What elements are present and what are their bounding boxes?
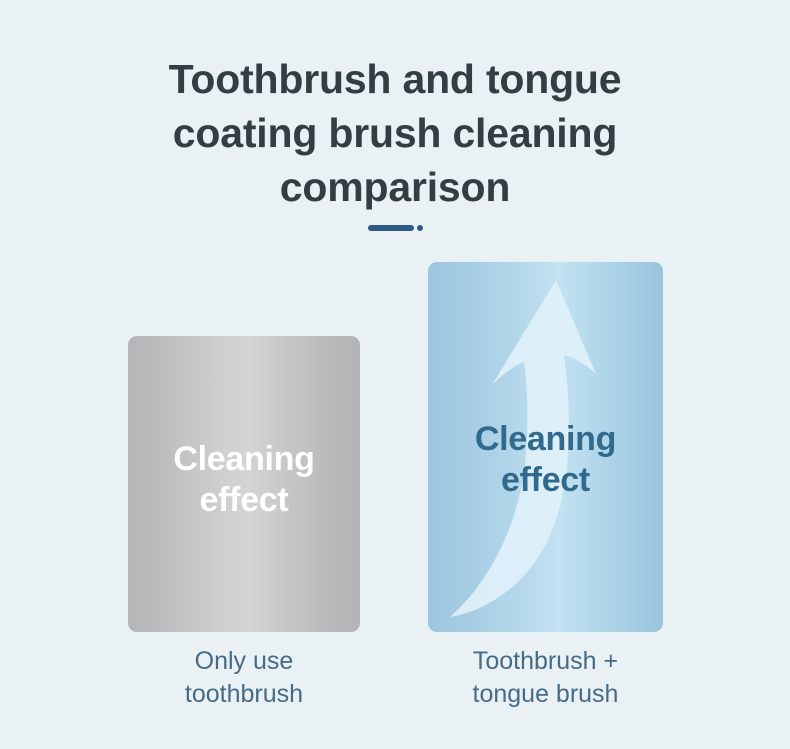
caption-line-1: Only use: [128, 645, 360, 678]
bar-label-line-1: Cleaning: [428, 419, 663, 460]
bar-label-line-2: effect: [428, 460, 663, 501]
bar-label-line-1: Cleaning: [128, 439, 360, 480]
bar-label-toothbrush-only: Cleaning effect: [128, 439, 360, 521]
caption-line-2: toothbrush: [128, 678, 360, 711]
comparison-infographic: Toothbrush and tongue coating brush clea…: [0, 0, 790, 749]
page-title-line-2: coating brush cleaning: [0, 106, 790, 160]
bar-label-toothbrush-plus-tongue-brush: Cleaning effect: [428, 419, 663, 501]
bar-toothbrush-only: Cleaning effect: [128, 336, 360, 632]
page-title-line-1: Toothbrush and tongue: [0, 52, 790, 106]
caption-line-1: Toothbrush +: [428, 645, 663, 678]
title-divider: [0, 222, 790, 236]
page-title-line-3: comparison: [0, 160, 790, 214]
caption-toothbrush-only: Only use toothbrush: [128, 645, 360, 711]
bar-label-line-2: effect: [128, 480, 360, 521]
divider-dot: [417, 225, 423, 231]
divider-bar: [368, 225, 414, 231]
bar-toothbrush-plus-tongue-brush: Cleaning effect: [428, 262, 663, 632]
caption-line-2: tongue brush: [428, 678, 663, 711]
caption-toothbrush-plus-tongue-brush: Toothbrush + tongue brush: [428, 645, 663, 711]
page-title: Toothbrush and tongue coating brush clea…: [0, 52, 790, 214]
